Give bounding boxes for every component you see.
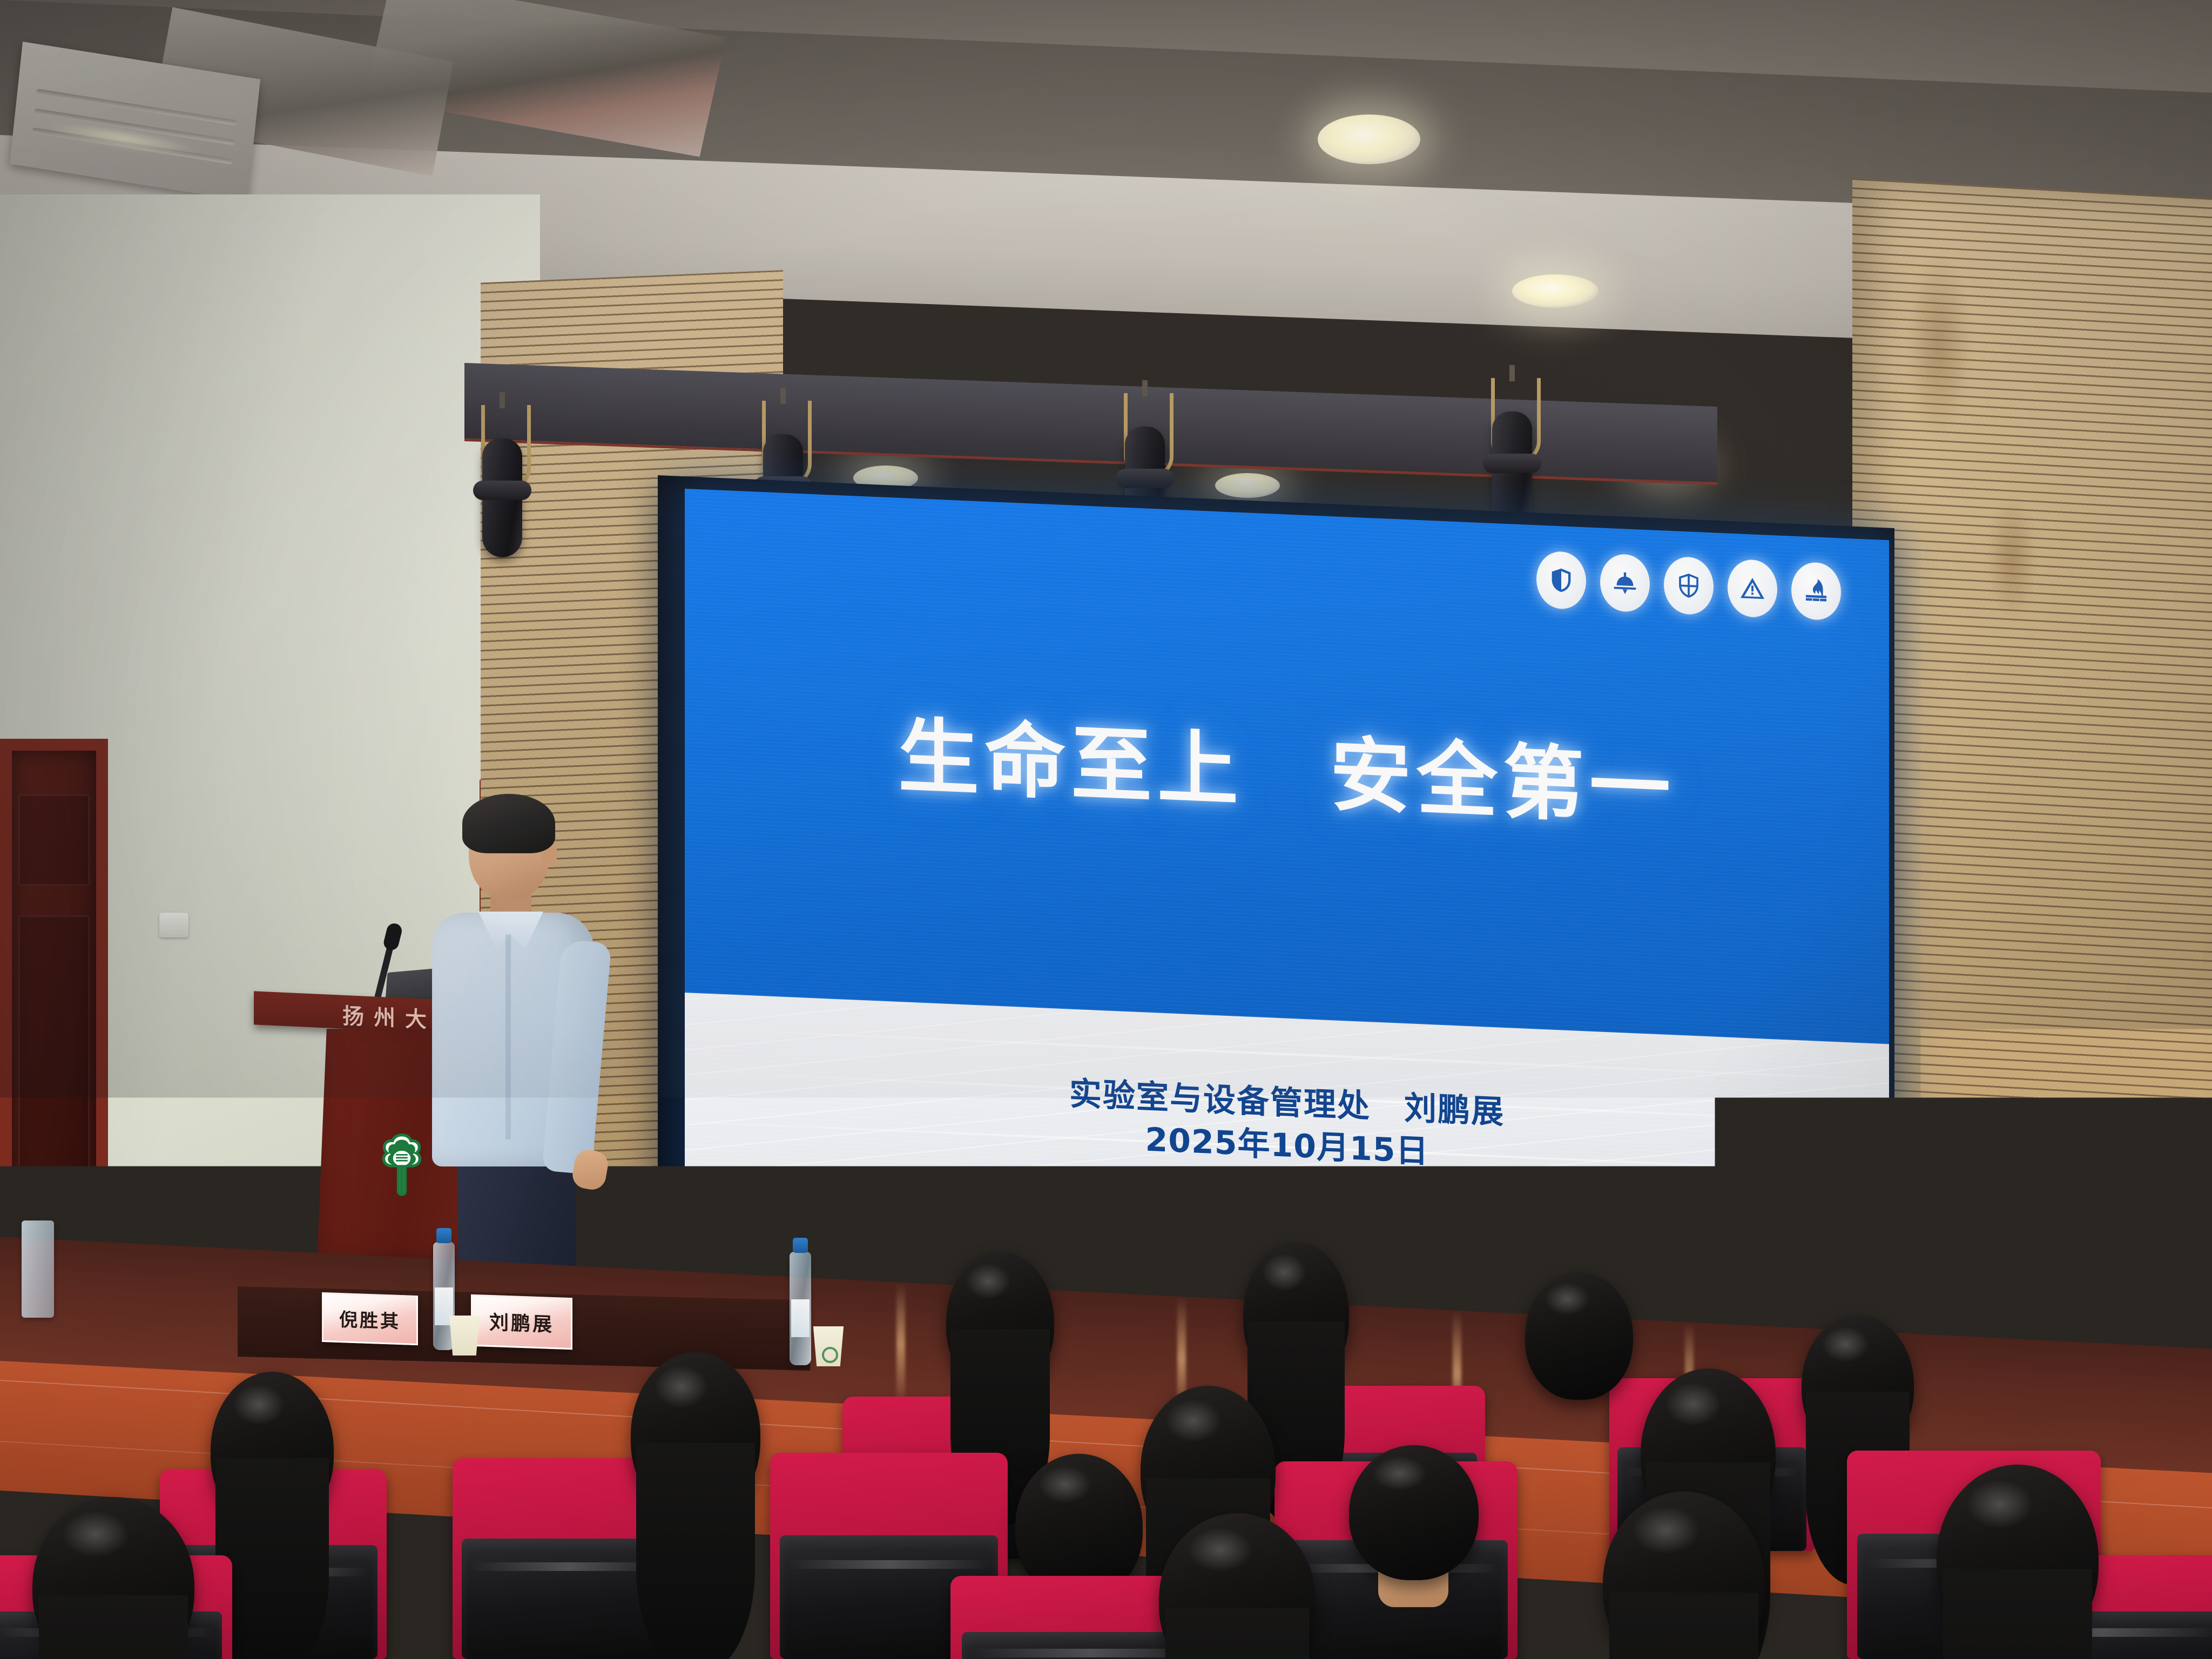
paper-cup-1 <box>447 1316 482 1355</box>
warning-triangle-icon <box>1728 559 1777 618</box>
audience-head-r2-b <box>631 1352 760 1518</box>
downlight-7 <box>1215 473 1280 498</box>
wall-outlet-right-2[interactable] <box>1985 1289 2009 1318</box>
speaker-shirt-placket <box>505 934 511 1139</box>
audience-head-r3-c <box>1525 1272 1633 1400</box>
speaker-hair <box>462 794 555 853</box>
water-bottle-2 <box>790 1252 811 1365</box>
nameplate-2-text: 刘鹏展 <box>489 1307 554 1337</box>
downlight-1 <box>1318 114 1420 164</box>
speaker-person <box>427 799 599 1285</box>
led-screen[interactable]: 生命至上 安全第一 实验室与设备管理处 刘鹏展 2025年10月15日 <box>685 489 1889 1334</box>
light-switch-plate[interactable] <box>159 913 188 938</box>
shield-icon <box>1536 550 1586 610</box>
wood-stain-a <box>1906 254 1971 437</box>
audience-head-r3-d <box>1802 1316 1914 1454</box>
yangzhou-university-tree-logo <box>373 1131 431 1202</box>
downlight-2 <box>1512 274 1599 308</box>
glass-tumbler-left <box>22 1220 54 1318</box>
nameplate-2: 刘鹏展 <box>471 1294 572 1350</box>
audience-head-r3-a <box>946 1252 1054 1392</box>
nameplate-1-text: 倪胜其 <box>339 1305 401 1333</box>
wood-stain-b <box>1987 497 2036 621</box>
audience-head-r1-e <box>1937 1465 2099 1654</box>
audience-head-r2-a <box>211 1372 334 1528</box>
wall-outlet-right[interactable] <box>2098 1225 2130 1265</box>
paper-cup-2 <box>811 1326 846 1366</box>
firewall-flame-icon <box>1791 562 1841 621</box>
hard-hat-icon <box>1600 554 1650 613</box>
audience-head-r3-b <box>1243 1242 1349 1387</box>
nameplate-1: 倪胜其 <box>322 1292 418 1345</box>
shield-cross-icon <box>1664 556 1714 616</box>
lecture-hall-photo: 生命至上 安全第一 实验室与设备管理处 刘鹏展 2025年10月15日 扬州大学 <box>0 0 2212 1659</box>
audience-head-r2-e <box>1349 1445 1479 1580</box>
door-left[interactable] <box>0 739 108 1311</box>
